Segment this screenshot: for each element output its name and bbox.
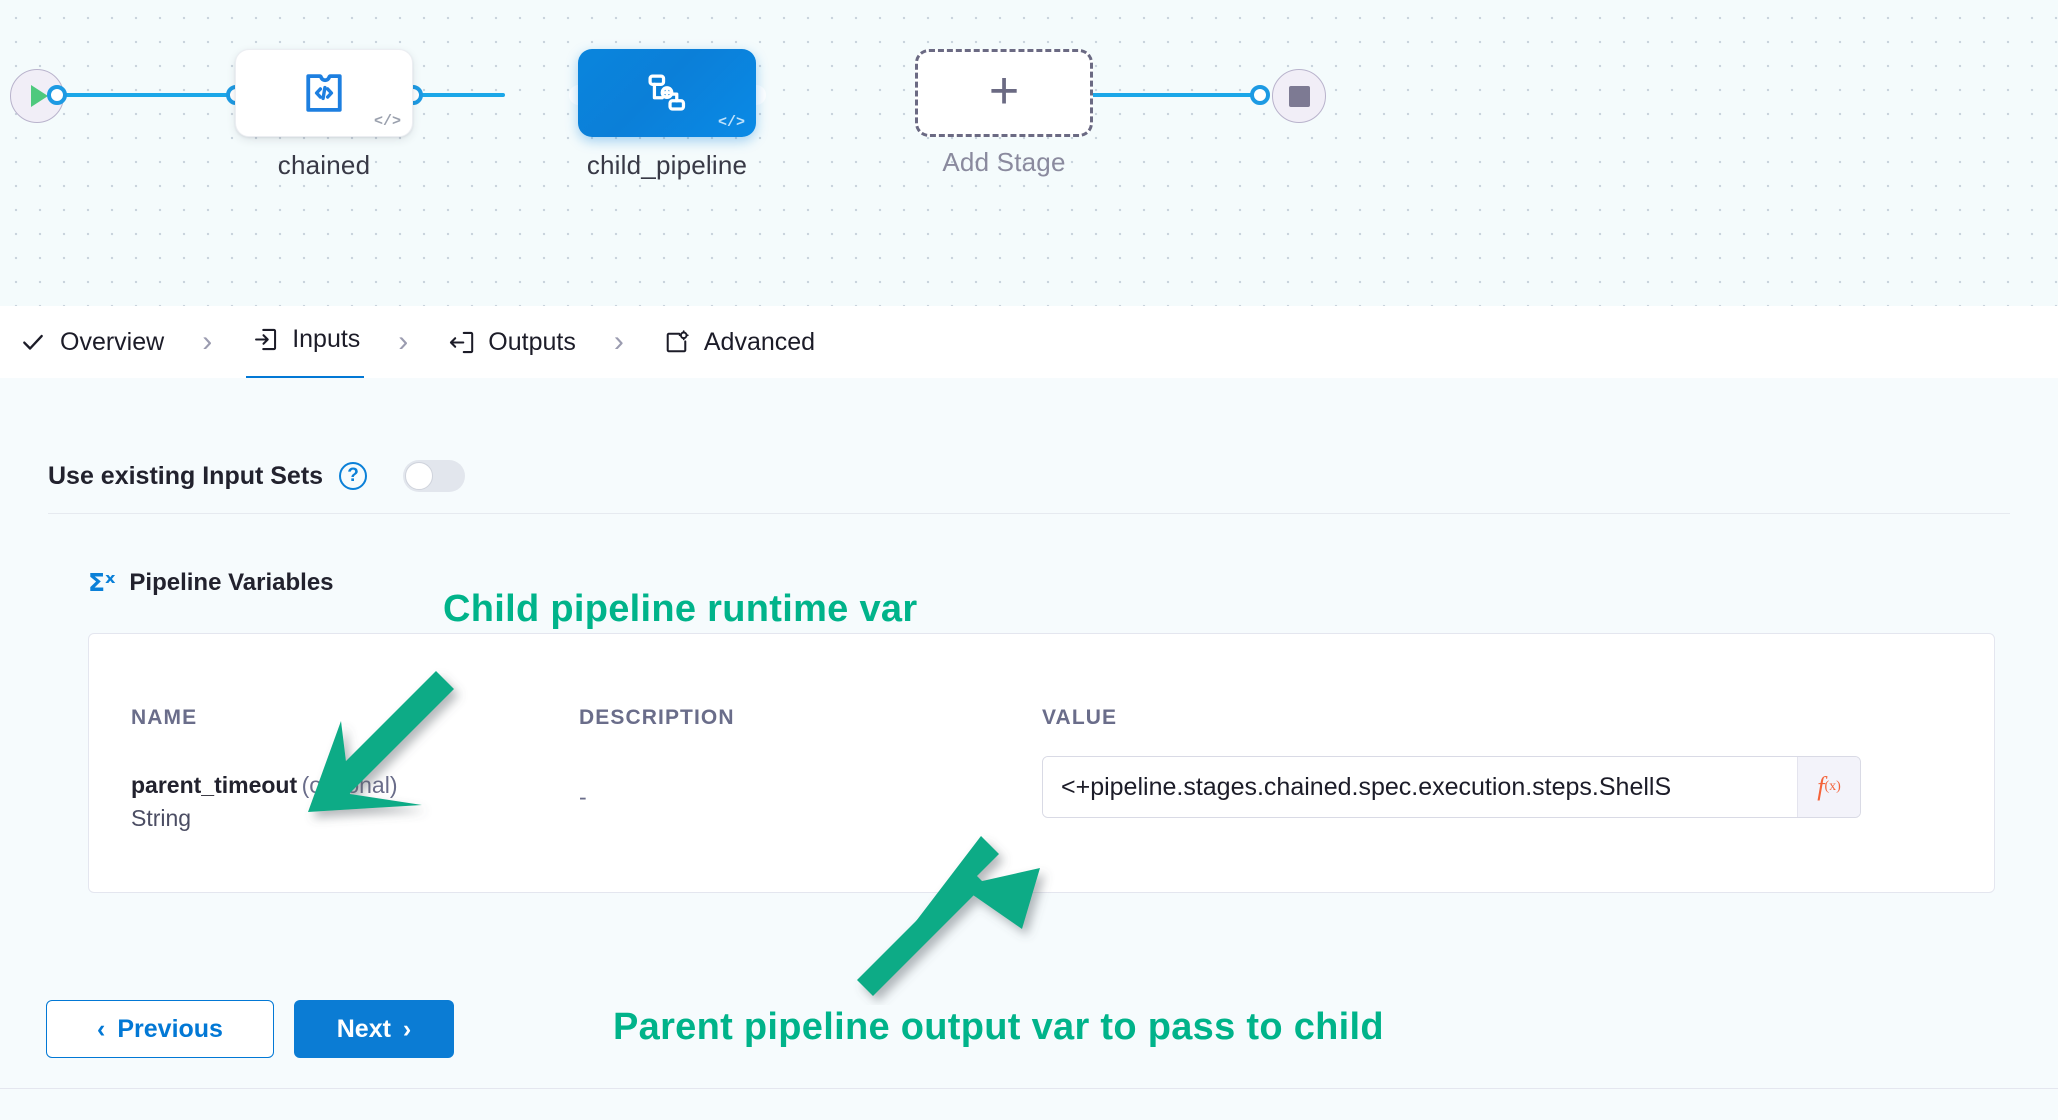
arrow-into-box-icon bbox=[250, 325, 280, 355]
pipeline-chain-icon bbox=[641, 67, 693, 119]
play-icon bbox=[31, 85, 48, 107]
custom-stage-code-icon bbox=[297, 66, 351, 120]
tab-inputs-label: Inputs bbox=[292, 325, 360, 354]
table-row: parent_timeout (optional) String bbox=[131, 772, 397, 832]
sigma-x-icon: Σˣ bbox=[88, 568, 115, 597]
tab-advanced[interactable]: Advanced bbox=[658, 306, 819, 378]
tab-separator-icon: › bbox=[364, 306, 442, 378]
wire-start-to-chained bbox=[40, 93, 240, 97]
variable-optional-tag: (optional) bbox=[302, 772, 398, 798]
previous-button[interactable]: ‹ Previous bbox=[46, 1000, 274, 1058]
stage-label-child-pipeline: child_pipeline bbox=[527, 150, 807, 181]
port-end-in[interactable] bbox=[1250, 85, 1270, 105]
check-icon bbox=[18, 327, 48, 357]
use-existing-input-sets-label: Use existing Input Sets bbox=[48, 462, 323, 491]
variable-value-cell: f(x) bbox=[1042, 756, 1861, 818]
tab-overview[interactable]: Overview bbox=[14, 306, 168, 378]
use-existing-input-sets-toggle[interactable] bbox=[403, 460, 465, 492]
chevron-right-icon: › bbox=[403, 1015, 411, 1044]
tab-separator-icon: › bbox=[580, 306, 658, 378]
question-mark-icon[interactable]: ? bbox=[339, 462, 367, 490]
pipeline-variables-table: NAME DESCRIPTION VALUE parent_timeout (o… bbox=[88, 633, 1995, 893]
fx-sub: (x) bbox=[1824, 779, 1840, 795]
variable-description: - bbox=[579, 784, 587, 811]
use-existing-input-sets-row: Use existing Input Sets ? bbox=[48, 460, 465, 492]
fx-expression-button[interactable]: f(x) bbox=[1797, 757, 1860, 817]
pipeline-variables-header: Σˣ Pipeline Variables bbox=[88, 568, 334, 597]
next-button-label: Next bbox=[337, 1015, 391, 1044]
chevron-left-icon: ‹ bbox=[97, 1015, 105, 1044]
yaml-badge-icon: </> bbox=[718, 114, 745, 131]
pipeline-canvas[interactable]: </> chained </> child_pipeline + Add Sta… bbox=[0, 0, 2058, 306]
section-divider bbox=[48, 513, 2010, 514]
previous-button-label: Previous bbox=[117, 1015, 223, 1044]
column-header-value: VALUE bbox=[1042, 706, 1117, 730]
yaml-badge-icon: </> bbox=[374, 113, 401, 130]
next-button[interactable]: Next › bbox=[294, 1000, 454, 1058]
tab-outputs-label: Outputs bbox=[488, 328, 576, 357]
tab-advanced-label: Advanced bbox=[704, 328, 815, 357]
annotation-parent-output-var: Parent pipeline output var to pass to ch… bbox=[613, 1006, 1384, 1049]
box-gear-icon bbox=[662, 327, 692, 357]
tab-outputs[interactable]: Outputs bbox=[442, 306, 580, 378]
tab-overview-label: Overview bbox=[60, 328, 164, 357]
stage-node-child-pipeline[interactable]: </> bbox=[578, 49, 756, 137]
stage-label-chained: chained bbox=[184, 150, 464, 181]
add-stage-node[interactable]: + bbox=[915, 49, 1093, 137]
annotation-child-runtime-var: Child pipeline runtime var bbox=[443, 588, 917, 631]
arrow-out-of-box-icon bbox=[446, 327, 476, 357]
stage-config-tabbar: Overview › Inputs › Outputs › bbox=[0, 306, 2058, 379]
variable-value-input[interactable] bbox=[1043, 757, 1797, 817]
toggle-knob bbox=[405, 462, 433, 490]
footer-divider bbox=[0, 1088, 2058, 1089]
column-header-name: NAME bbox=[131, 706, 197, 730]
column-header-description: DESCRIPTION bbox=[579, 706, 735, 730]
variable-type: String bbox=[131, 805, 397, 832]
tab-inputs[interactable]: Inputs bbox=[246, 304, 364, 381]
variable-value-field[interactable]: f(x) bbox=[1042, 756, 1861, 818]
stage-node-chained[interactable]: </> bbox=[235, 49, 413, 137]
port-start-out[interactable] bbox=[47, 85, 67, 105]
pipeline-variables-title: Pipeline Variables bbox=[129, 569, 333, 597]
pipeline-end-node[interactable] bbox=[1272, 69, 1326, 123]
tab-separator-icon: › bbox=[168, 306, 246, 378]
variable-name: parent_timeout bbox=[131, 772, 297, 798]
add-stage-label: Add Stage bbox=[864, 147, 1144, 178]
fx-label: f bbox=[1817, 772, 1824, 802]
stop-icon bbox=[1289, 86, 1310, 107]
